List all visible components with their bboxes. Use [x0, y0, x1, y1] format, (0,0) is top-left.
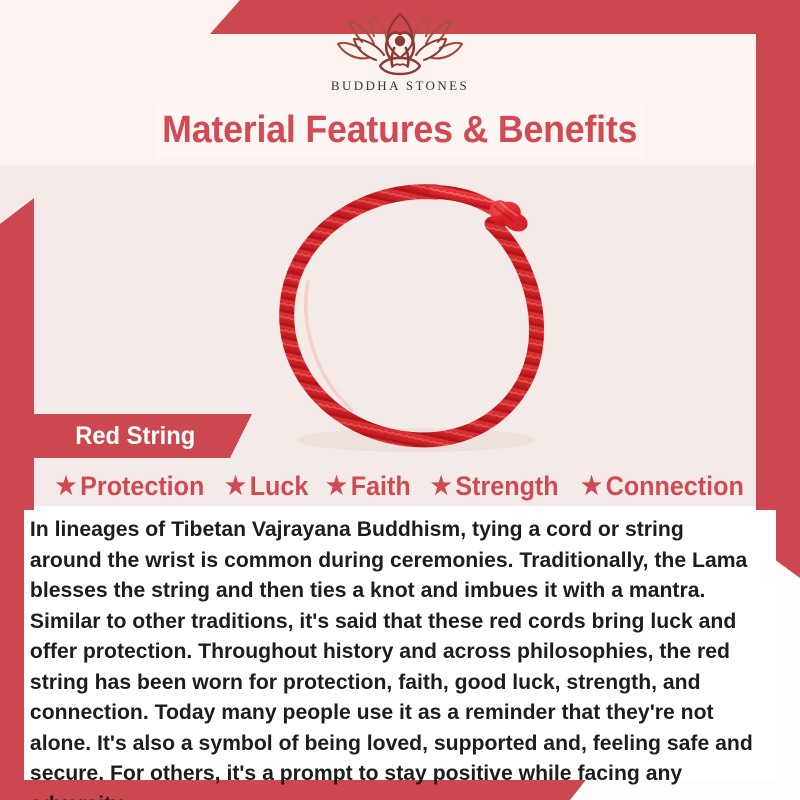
star-icon: ★ — [582, 474, 603, 499]
star-icon: ★ — [55, 474, 76, 499]
feature-item-strength: ★ Strength — [431, 471, 559, 502]
lotus-meditation-figure-icon — [332, 8, 468, 80]
product-label-banner: Red String — [22, 414, 252, 458]
brand-wordmark: BUDDHA STONES — [331, 78, 469, 94]
feature-item-faith: ★ Faith — [326, 471, 411, 502]
feature-label: Protection — [80, 471, 204, 502]
star-icon: ★ — [431, 474, 452, 499]
feature-item-connection: ★ Connection — [582, 471, 745, 502]
product-label-text: Red String — [22, 422, 195, 451]
feature-item-protection: ★ Protection — [55, 471, 204, 502]
feature-label: Faith — [351, 471, 411, 502]
brand-logo: BUDDHA STONES — [0, 8, 800, 104]
page-title: Material Features & Benefits — [155, 104, 645, 157]
description-panel: In lineages of Tibetan Vajrayana Buddhis… — [24, 510, 776, 780]
feature-label: Luck — [249, 471, 308, 502]
description-text: In lineages of Tibetan Vajrayana Buddhis… — [24, 510, 765, 800]
feature-item-luck: ★ Luck — [225, 471, 308, 502]
feature-label: Strength — [455, 471, 558, 502]
page-title-text: Material Features & Benefits — [162, 109, 637, 152]
red-braided-string-bracelet-image — [248, 172, 588, 472]
star-icon: ★ — [225, 474, 246, 499]
infographic-page: BUDDHA STONES Material Features & Benefi… — [0, 0, 800, 800]
feature-list: ★ Protection ★ Luck ★ Faith ★ Strength ★… — [0, 466, 800, 506]
star-icon: ★ — [326, 474, 347, 499]
feature-label: Connection — [606, 471, 744, 502]
